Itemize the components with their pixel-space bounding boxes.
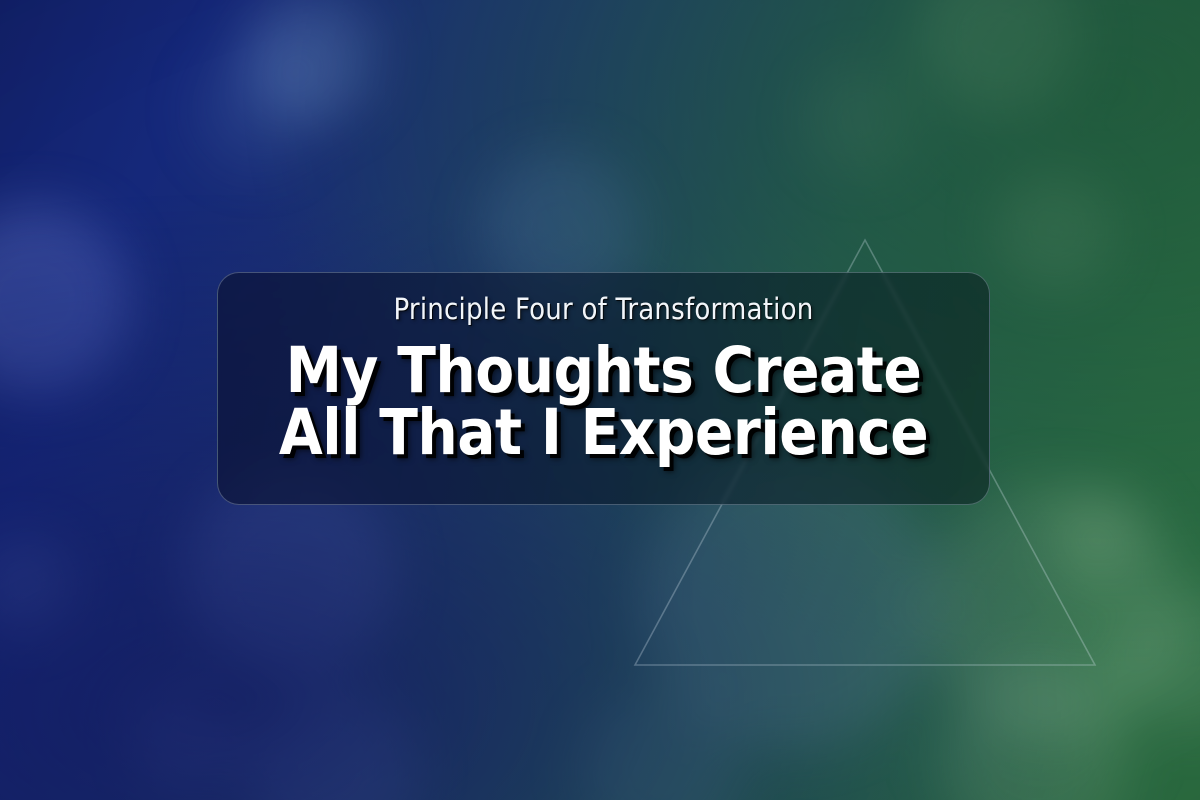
headline-line-2: All That I Experience [279,402,928,464]
headline-line-1: My Thoughts Create [279,340,928,402]
card-headline: My Thoughts Create All That I Experience [279,340,928,465]
slide-canvas: Principle Four of Transformation My Thou… [0,0,1200,800]
quote-card: Principle Four of Transformation My Thou… [217,272,990,505]
card-eyebrow: Principle Four of Transformation [393,295,813,324]
